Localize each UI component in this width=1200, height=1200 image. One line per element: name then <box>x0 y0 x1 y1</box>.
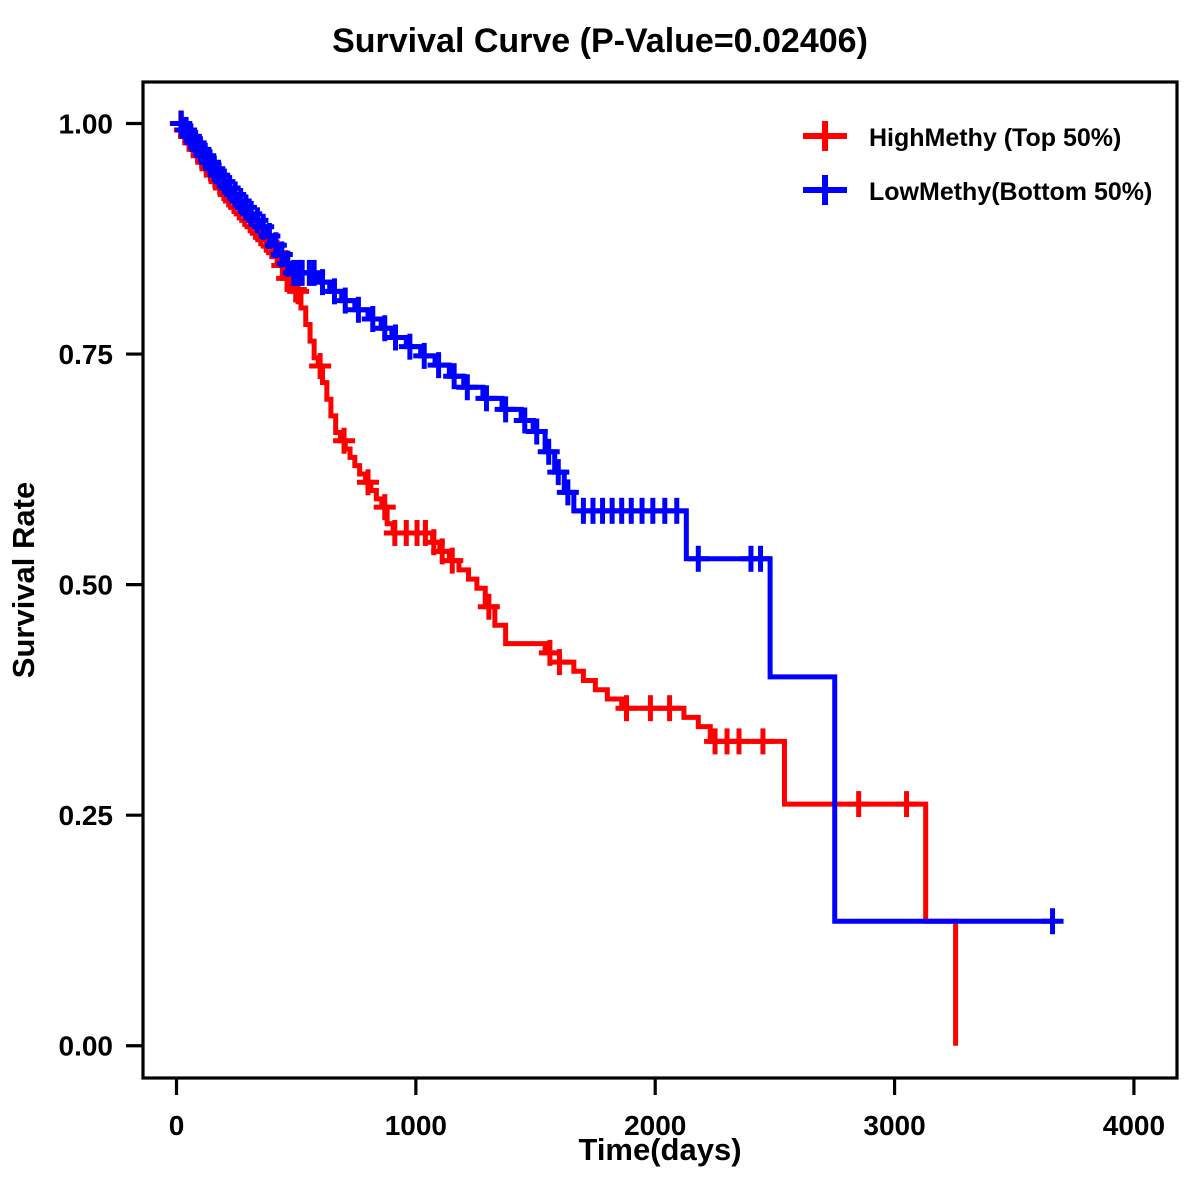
legend-item-low-methy[interactable]: LowMethy(Bottom 50%) <box>803 175 1152 206</box>
y-tick-group: 0.000.250.500.751.00 <box>59 109 144 1062</box>
legend-label: HighMethy (Top 50%) <box>869 124 1121 152</box>
legend-label: LowMethy(Bottom 50%) <box>869 178 1152 206</box>
y-tick-label-0.25: 0.25 <box>59 800 114 831</box>
series-layer <box>170 111 1064 1046</box>
y-tick-label-0.50: 0.50 <box>59 570 114 601</box>
km-step-line <box>177 124 1055 922</box>
y-tick-label-0.00: 0.00 <box>59 1031 114 1062</box>
series-low-methy <box>170 111 1063 935</box>
legend-item-high-methy[interactable]: HighMethy (Top 50%) <box>803 121 1121 152</box>
page-title: Survival Curve (P-Value=0.02406) <box>332 22 868 60</box>
x-tick-group: 01000200030004000 <box>169 1078 1165 1141</box>
chart-legend: HighMethy (Top 50%)LowMethy(Bottom 50%) <box>803 121 1152 206</box>
x-tick-label-1000: 1000 <box>385 1110 447 1141</box>
y-tick-label-0.75: 0.75 <box>59 339 114 370</box>
survival-curve-plot: Survival Curve (P-Value=0.02406) Time(da… <box>0 0 1200 1200</box>
chart-canvas: Survival Curve (P-Value=0.02406) Time(da… <box>0 0 1200 1200</box>
x-tick-label-4000: 4000 <box>1103 1110 1165 1141</box>
y-axis-title: Survival Rate <box>6 482 41 678</box>
x-tick-label-0: 0 <box>169 1110 185 1141</box>
y-tick-label-1.00: 1.00 <box>59 109 114 140</box>
x-tick-label-3000: 3000 <box>863 1110 925 1141</box>
plot-frame <box>143 82 1177 1078</box>
x-tick-label-2000: 2000 <box>624 1110 686 1141</box>
